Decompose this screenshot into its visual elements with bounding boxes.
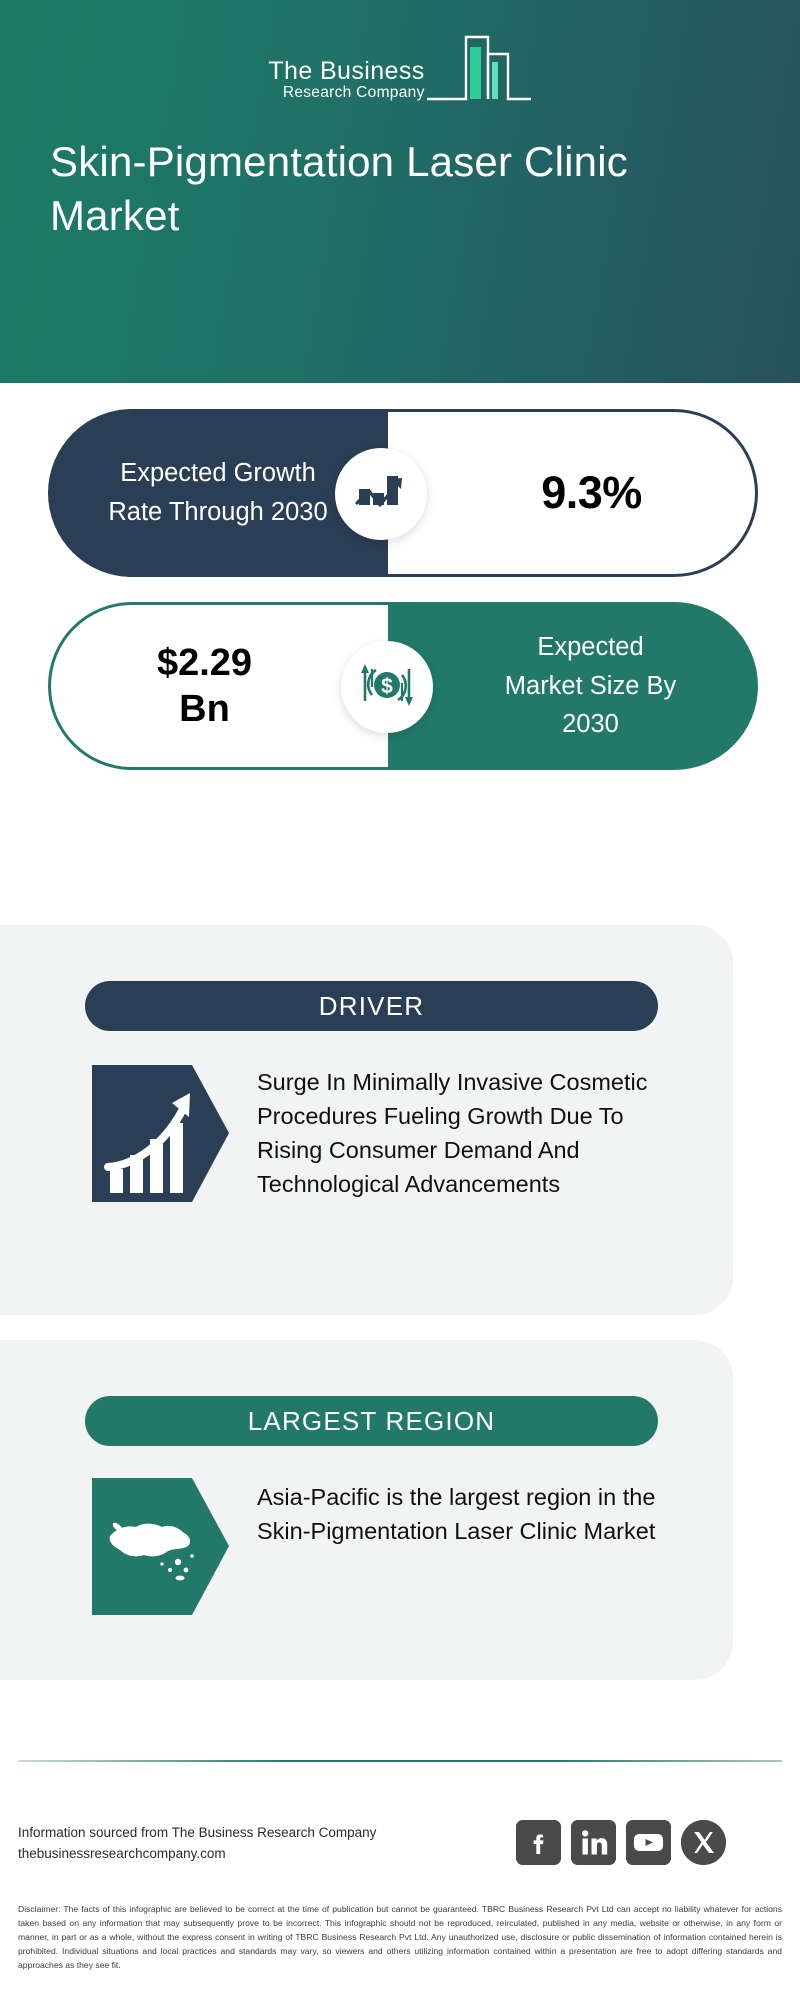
footer-website-link[interactable]: thebusinessresearchcompany.com — [18, 1844, 376, 1865]
logo-wordmark: The Business Research Company — [268, 58, 424, 109]
page-title: Skin-Pigmentation Laser Clinic Market — [50, 135, 750, 243]
largest-region-body-row: Asia-Pacific is the largest region in th… — [92, 1478, 672, 1615]
driver-body-row: Surge In Minimally Invasive Cosmetic Pro… — [92, 1065, 672, 1202]
footer-source: Information sourced from The Business Re… — [18, 1823, 376, 1865]
kpi-market-size-card: $2.29 Bn Expected Market Size By 2030 $ — [48, 602, 758, 770]
largest-region-pill: LARGEST REGION — [85, 1396, 658, 1446]
disclaimer-text: Disclaimer: The facts of this infographi… — [18, 1903, 782, 1973]
driver-pill-label: DRIVER — [319, 991, 424, 1022]
bar-chart-growth-arrow-icon — [353, 467, 409, 522]
largest-region-pill-label: LARGEST REGION — [248, 1406, 496, 1437]
kpi-growth-label: Expected Growth Rate Through 2030 — [93, 454, 343, 532]
growth-chart-arrow-icon — [92, 1065, 229, 1202]
youtube-icon[interactable] — [626, 1820, 671, 1865]
driver-panel: DRIVER Surge In Minimally Invasive Cosme… — [0, 925, 733, 1315]
social-links — [516, 1820, 726, 1865]
dollar-circulation-icon: $ — [357, 657, 417, 718]
kpi-growth-value: 9.3% — [501, 467, 642, 519]
kpi-market-size-value-block: $2.29 Bn — [48, 602, 388, 770]
largest-region-panel: LARGEST REGION Asia-Pacific is the large… — [0, 1340, 733, 1680]
driver-body-text: Surge In Minimally Invasive Cosmetic Pro… — [257, 1065, 662, 1201]
kpi-market-size-label: Expected Market Size By 2030 — [466, 628, 681, 744]
footer-source-line-1: Information sourced from The Business Re… — [18, 1823, 376, 1844]
footer-divider — [18, 1760, 782, 1762]
kpi-growth-badge — [335, 448, 427, 540]
driver-pill: DRIVER — [85, 981, 658, 1031]
x-twitter-icon[interactable] — [681, 1820, 726, 1865]
largest-region-body-text: Asia-Pacific is the largest region in th… — [257, 1480, 662, 1548]
facebook-icon[interactable] — [516, 1820, 561, 1865]
logo-line-2: Research Company — [268, 84, 424, 103]
asia-pacific-map-icon — [92, 1478, 229, 1615]
kpi-market-size-value: $2.29 Bn — [135, 640, 305, 733]
kpi-market-size-badge: $ — [341, 641, 433, 733]
linkedin-icon[interactable] — [571, 1820, 616, 1865]
kpi-growth-value-block: 9.3% — [388, 409, 758, 577]
company-logo: The Business Research Company — [0, 26, 800, 109]
logo-line-1: The Business — [268, 58, 424, 84]
header-banner: The Business Research Company Skin-Pigme… — [0, 0, 800, 383]
logo-bar-chart-icon — [426, 26, 532, 109]
svg-text:$: $ — [381, 675, 393, 698]
kpi-market-size-label-block: Expected Market Size By 2030 — [388, 602, 758, 770]
kpi-growth-rate-card: Expected Growth Rate Through 2030 9.3% — [48, 409, 758, 577]
